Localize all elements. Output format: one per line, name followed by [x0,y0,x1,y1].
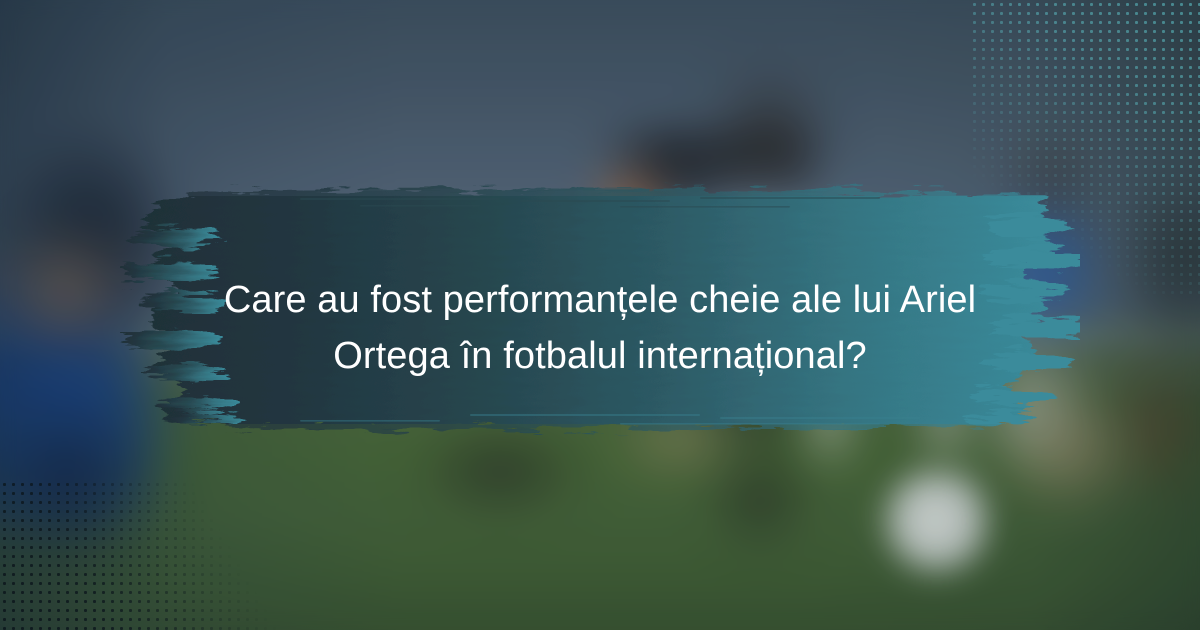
headline-line-1: Care au fost performanțele cheie ale lui… [210,272,990,328]
headline-line-2: Ortega în fotbalul internațional? [210,328,990,384]
social-card: Care au fost performanțele cheie ale lui… [0,0,1200,630]
headline: Care au fost performanțele cheie ale lui… [210,272,990,384]
